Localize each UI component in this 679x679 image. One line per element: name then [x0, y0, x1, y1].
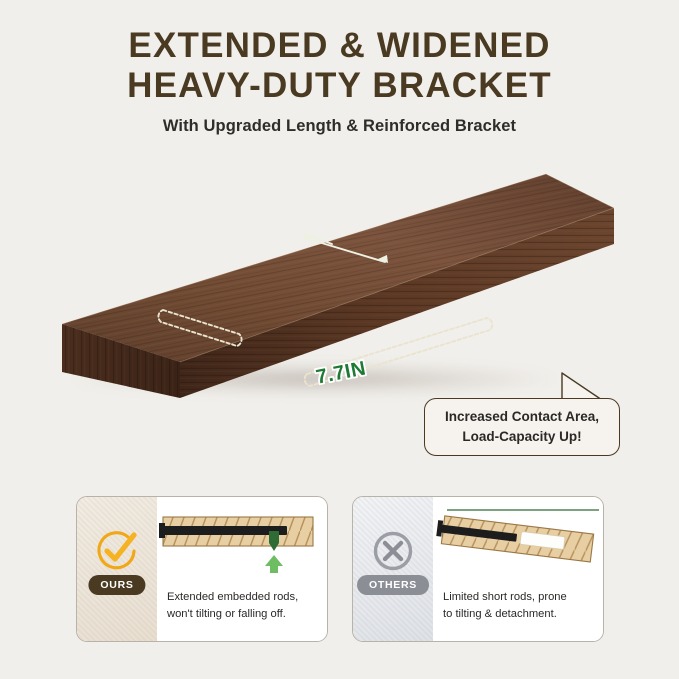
infographic-stage: EXTENDED & WIDENED HEAVY-DUTY BRACKET Wi… [0, 0, 679, 679]
x-circle-icon [370, 528, 416, 574]
callout-tail-icon [540, 368, 610, 402]
headline-line-1: EXTENDED & WIDENED [0, 28, 679, 64]
others-badge-panel: OTHERS [353, 497, 433, 641]
ours-diagram [157, 501, 327, 579]
header-block: EXTENDED & WIDENED HEAVY-DUTY BRACKET Wi… [0, 0, 679, 136]
ours-badge-label: OURS [88, 575, 145, 595]
comparison-card-ours: OURS [76, 496, 328, 642]
subtitle: With Upgraded Length & Reinforced Bracke… [0, 117, 679, 136]
others-badge-label: OTHERS [357, 575, 429, 595]
callout-line-2: Load-Capacity Up! [462, 427, 581, 447]
others-content: Limited short rods, prone to tilting & d… [433, 497, 603, 641]
others-caption-line-2: to tilting & detachment. [443, 608, 557, 620]
callout-line-1: Increased Contact Area, [445, 407, 599, 427]
callout-bubble: Increased Contact Area, Load-Capacity Up… [424, 398, 620, 456]
headline-line-2: HEAVY-DUTY BRACKET [0, 68, 679, 104]
others-caption: Limited short rods, prone to tilting & d… [443, 589, 598, 623]
others-diagram [433, 501, 603, 579]
ours-caption-line-1: Extended embedded rods, [167, 591, 298, 603]
comparison-section: OURS [0, 496, 679, 646]
others-caption-line-1: Limited short rods, prone [443, 591, 567, 603]
ours-caption-line-2: won't tilting or falling off. [167, 608, 286, 620]
comparison-card-others: OTHERS [352, 496, 604, 642]
check-circle-icon [94, 528, 140, 574]
ours-badge-panel: OURS [77, 497, 157, 641]
ours-caption: Extended embedded rods, won't tilting or… [167, 589, 322, 623]
ours-content: Extended embedded rods, won't tilting or… [157, 497, 327, 641]
